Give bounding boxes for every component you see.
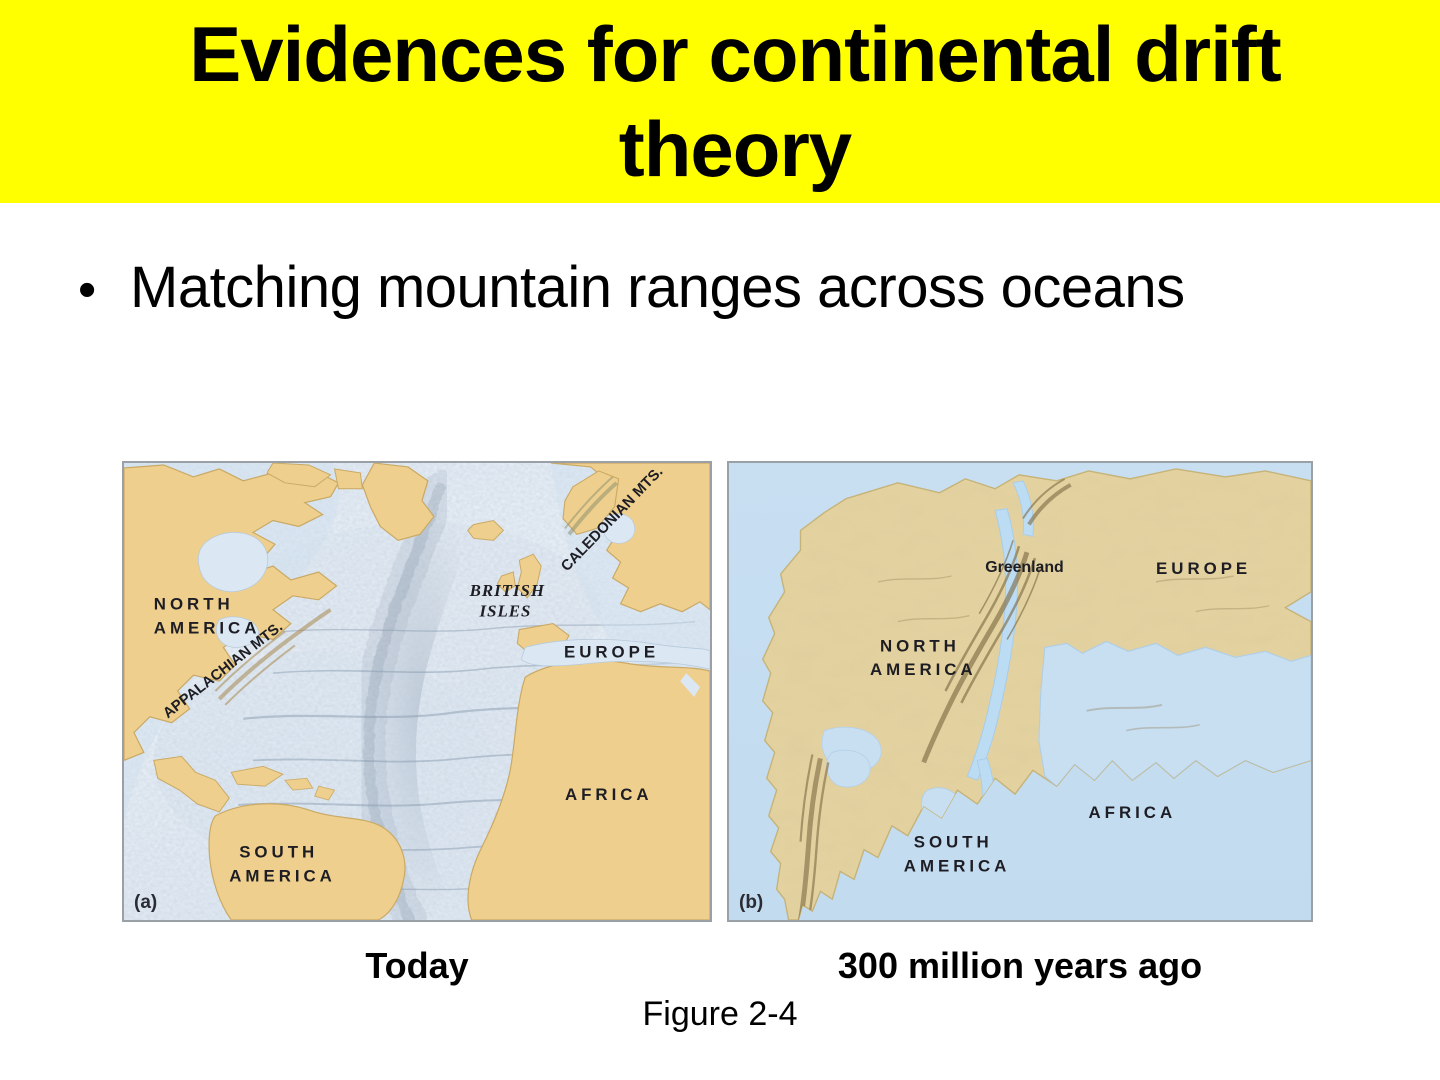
panel-tag-a: (a)	[134, 892, 157, 914]
map-label-europe-pangaea: EUROPE	[1156, 559, 1251, 578]
inland-bay-2	[827, 750, 870, 787]
bullet-list-item: • Matching mountain ranges across oceans	[78, 258, 1398, 319]
map-label-british-isles-line1: BRITISH	[469, 581, 545, 600]
figure-number-label: Figure 2-4	[0, 995, 1440, 1034]
map-label-north-america-line2: AMERICA	[154, 619, 261, 638]
caption-today: Today	[122, 945, 712, 987]
panel-tag-b: (b)	[739, 892, 763, 914]
map-panel-pangaea: Greenland EUROPE NORTH AMERICA AFRICA SO…	[727, 461, 1313, 922]
map-label-africa: AFRICA	[565, 785, 653, 804]
map-pangaea-graphic: Greenland EUROPE NORTH AMERICA AFRICA SO…	[729, 463, 1311, 920]
map-label-north-america-line1: NORTH	[154, 595, 234, 614]
map-today-graphic: NORTH AMERICA APPALACHIAN MTS. BRITISH I…	[124, 463, 710, 920]
map-label-africa-pangaea: AFRICA	[1089, 803, 1177, 822]
map-label-south-america-pangaea-line2: AMERICA	[904, 856, 1011, 875]
page-title: Evidences for continental drift theory	[35, 7, 1405, 197]
map-label-north-america-pangaea-line2: AMERICA	[870, 660, 977, 679]
bullet-marker-icon: •	[78, 264, 130, 316]
tethys-ocean	[1039, 641, 1311, 786]
map-label-europe: EUROPE	[564, 642, 659, 661]
map-label-south-america-line1: SOUTH	[239, 843, 318, 862]
figure-container: NORTH AMERICA APPALACHIAN MTS. BRITISH I…	[0, 455, 1440, 1075]
map-label-south-america-pangaea-line1: SOUTH	[914, 833, 993, 852]
map-label-north-america-pangaea-line1: NORTH	[880, 636, 960, 655]
map-label-greenland: Greenland	[985, 559, 1064, 576]
map-panel-today: NORTH AMERICA APPALACHIAN MTS. BRITISH I…	[122, 461, 712, 922]
map-label-south-america-line2: AMERICA	[229, 866, 336, 885]
caption-pangaea: 300 million years ago	[727, 945, 1313, 987]
bullet-item-label: Matching mountain ranges across oceans	[130, 258, 1185, 319]
map-label-british-isles-line2: ISLES	[479, 602, 532, 621]
title-banner: Evidences for continental drift theory	[0, 0, 1440, 203]
